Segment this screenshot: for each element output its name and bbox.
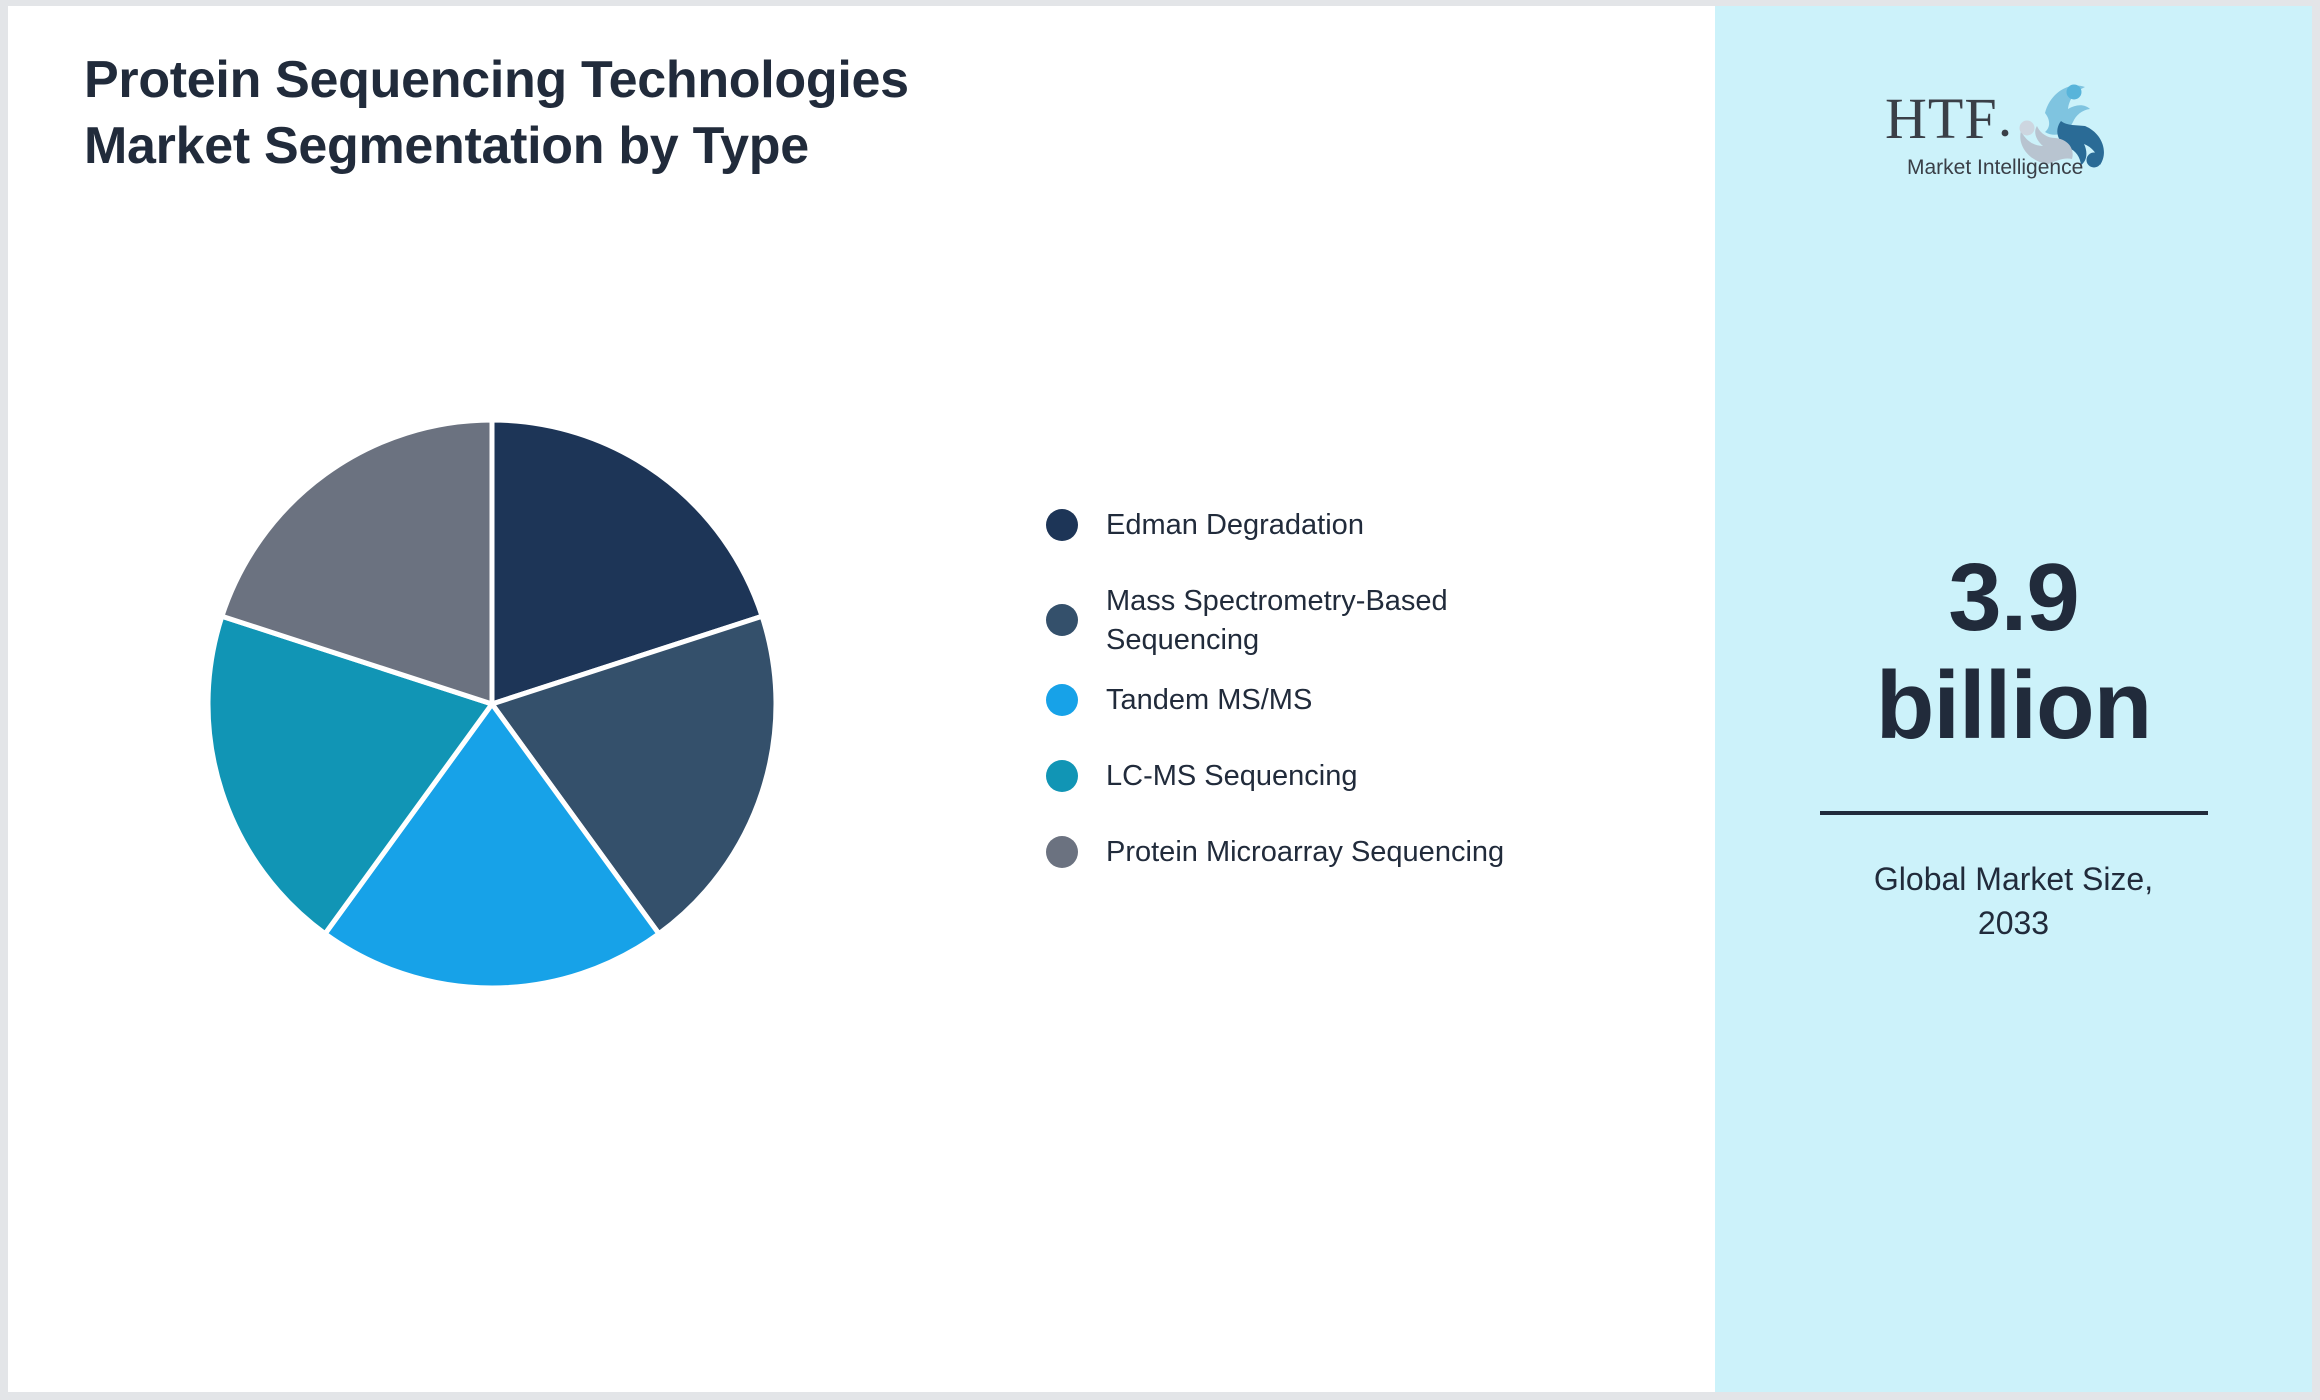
chart-panel: Protein Sequencing Technologies Market S… bbox=[8, 6, 1715, 1392]
legend-item-edman-degradation[interactable]: Edman Degradation bbox=[1046, 506, 1606, 560]
legend-item-tandem-ms-ms[interactable]: Tandem MS/MS bbox=[1046, 681, 1606, 735]
legend-swatch-icon bbox=[1046, 684, 1078, 716]
pie-chart bbox=[205, 417, 779, 991]
legend-item-mass-spectrometry-based-sequencing[interactable]: Mass Spectrometry-Based Sequencing bbox=[1046, 582, 1606, 659]
stat-value: 3.9 billion bbox=[1715, 544, 2312, 759]
stat-panel: HTF Market Intelligence bbox=[1715, 6, 2312, 1392]
legend-item-label: Tandem MS/MS bbox=[1106, 681, 1312, 720]
legend-swatch-icon bbox=[1046, 760, 1078, 792]
legend-item-label: Mass Spectrometry-Based Sequencing bbox=[1106, 582, 1448, 659]
stat-caption: Global Market Size, 2033 bbox=[1715, 857, 2312, 945]
legend-item-protein-microarray-sequencing[interactable]: Protein Microarray Sequencing bbox=[1046, 833, 1606, 887]
chart-legend: Edman Degradation Mass Spectrometry-Base… bbox=[1046, 506, 1606, 909]
logo-svg: HTF Market Intelligence bbox=[1869, 76, 2159, 181]
legend-swatch-icon bbox=[1046, 509, 1078, 541]
logo-period-icon bbox=[2001, 130, 2008, 137]
pie-chart-svg bbox=[205, 417, 779, 991]
legend-item-label: LC-MS Sequencing bbox=[1106, 757, 1357, 796]
logo-wordmark: HTF bbox=[1885, 86, 1998, 151]
page-title: Protein Sequencing Technologies Market S… bbox=[84, 48, 1184, 179]
legend-item-lc-ms-sequencing[interactable]: LC-MS Sequencing bbox=[1046, 757, 1606, 811]
legend-swatch-icon bbox=[1046, 604, 1078, 636]
stat-divider bbox=[1820, 811, 2208, 815]
htf-market-intelligence-logo: HTF Market Intelligence bbox=[1869, 76, 2159, 181]
stat-block: 3.9 billion Global Market Size, 2033 bbox=[1715, 544, 2312, 945]
legend-swatch-icon bbox=[1046, 836, 1078, 868]
legend-item-label: Edman Degradation bbox=[1106, 506, 1364, 545]
pie-slice-group bbox=[208, 420, 776, 988]
legend-item-label: Protein Microarray Sequencing bbox=[1106, 833, 1504, 872]
infographic-card: Protein Sequencing Technologies Market S… bbox=[8, 6, 2312, 1392]
logo-tagline: Market Intelligence bbox=[1907, 156, 2083, 179]
